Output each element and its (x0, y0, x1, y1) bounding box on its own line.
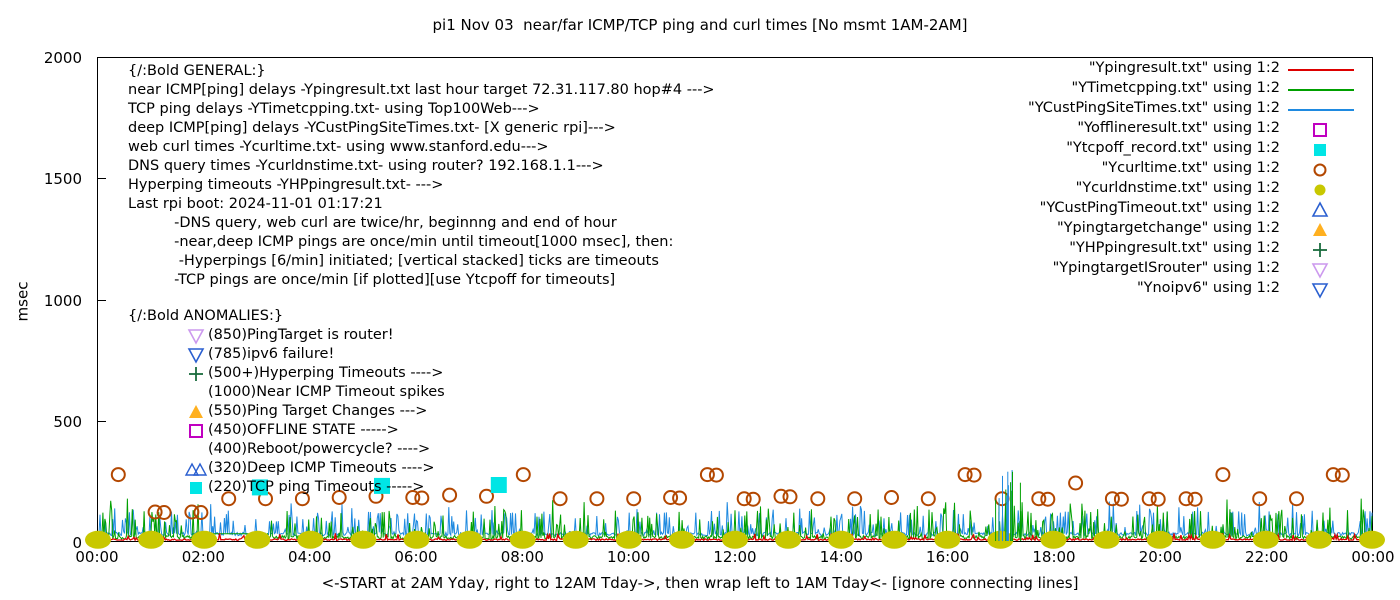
y-tick-label: 1500 (0, 170, 82, 188)
anomaly-label: (450)OFFLINE STATE -----> (208, 422, 399, 438)
legend-key (1288, 60, 1378, 80)
anomaly-item: (220)TCP ping Timeouts -----> (128, 480, 445, 499)
legend-key (1288, 100, 1378, 120)
anomaly-label: (500+)Hyperping Timeouts ----> (208, 365, 443, 381)
general-line: Last rpi boot: 2024-11-01 01:17:21 (128, 197, 715, 216)
general-line: Hyperping timeouts -YHPpingresult.txt- -… (128, 178, 715, 197)
x-tick-label: 04:00 (250, 548, 370, 566)
legend-label: "YTimetcpping.txt" using 1:2 (960, 80, 1280, 100)
anomaly-label: (400)Reboot/powercycle? ----> (208, 441, 430, 457)
general-line: web curl times -Ycurltime.txt- using www… (128, 140, 715, 159)
legend-keys (1288, 60, 1378, 300)
general-line: -Hyperpings [6/min] initiated; [vertical… (128, 254, 715, 273)
legend-label: "Ytcpoff_record.txt" using 1:2 (960, 140, 1280, 160)
legend-label: "YHPpingresult.txt" using 1:2 (960, 240, 1280, 260)
inv-triangle-open-blue-icon (186, 346, 206, 364)
double-triangle-open-blue-icon (186, 460, 206, 478)
y-tick-label: 1000 (0, 292, 82, 310)
general-annotation-block: {/:Bold GENERAL:}near ICMP[ping] delays … (128, 64, 715, 292)
general-line: -TCP pings are once/min [if plotted][use… (128, 273, 715, 292)
triangle-open-blue-icon (1310, 201, 1330, 219)
legend-key (1288, 240, 1378, 260)
inv-triangle-open-blue-icon (1310, 281, 1330, 299)
legend-line-swatch (1288, 109, 1354, 111)
anomaly-label: (320)Deep ICMP Timeouts ----> (208, 460, 435, 476)
anomaly-item: (850)PingTarget is router! (128, 328, 445, 347)
legend-labels: "Ypingresult.txt" using 1:2"YTimetcpping… (960, 60, 1280, 300)
anomalies-annotation-block: {/:Bold ANOMALIES:}(850)PingTarget is ro… (128, 309, 445, 499)
general-heading: {/:Bold GENERAL:} (128, 64, 715, 83)
triangle-filled-orange-icon (186, 403, 206, 421)
x-tick-label: 02:00 (143, 548, 263, 566)
square-open-magenta-icon (1310, 121, 1330, 139)
legend-label: "YCustPingTimeout.txt" using 1:2 (960, 200, 1280, 220)
legend-key (1288, 160, 1378, 180)
inv-triangle-open-violet-icon (186, 327, 206, 345)
triangle-filled-orange-icon (1310, 221, 1330, 239)
general-line: TCP ping delays -YTimetcpping.txt- using… (128, 102, 715, 121)
legend-key (1288, 260, 1378, 280)
anomaly-label: (550)Ping Target Changes ---> (208, 403, 427, 419)
legend-key (1288, 80, 1378, 100)
legend-label: "Ycurltime.txt" using 1:2 (960, 160, 1280, 180)
y-tick-label: 500 (0, 413, 82, 431)
legend-label: "Ycurldnstime.txt" using 1:2 (960, 180, 1280, 200)
anomaly-item: (450)OFFLINE STATE -----> (128, 423, 445, 442)
general-line: deep ICMP[ping] delays -YCustPingSiteTim… (128, 121, 715, 140)
legend-key (1288, 120, 1378, 140)
chart-title: pi1 Nov 03 near/far ICMP/TCP ping and cu… (0, 18, 1400, 33)
anomaly-item: (1000)Near ICMP Timeout spikes (128, 385, 445, 404)
general-line: -DNS query, web curl are twice/hr, begin… (128, 216, 715, 235)
circle-open-brown-icon (1310, 161, 1330, 179)
legend-label: "Ypingresult.txt" using 1:2 (960, 60, 1280, 80)
legend-label: "YpingtargetISrouter" using 1:2 (960, 260, 1280, 280)
legend-key (1288, 200, 1378, 220)
x-tick-label: 12:00 (675, 548, 795, 566)
legend-key (1288, 220, 1378, 240)
general-line: DNS query times -Ycurldnstime.txt- using… (128, 159, 715, 178)
square-open-magenta-icon (186, 422, 206, 440)
legend-key (1288, 140, 1378, 160)
general-line: -near,deep ICMP pings are once/min until… (128, 235, 715, 254)
general-line: near ICMP[ping] delays -Ypingresult.txt … (128, 83, 715, 102)
anomaly-item: (500+)Hyperping Timeouts ----> (128, 366, 445, 385)
anomalies-heading: {/:Bold ANOMALIES:} (128, 309, 445, 328)
square-filled-cyan-icon (1310, 141, 1330, 159)
square-filled-cyan-icon (186, 479, 206, 497)
legend-label: "Yofflineresult.txt" using 1:2 (960, 120, 1280, 140)
legend-key (1288, 280, 1378, 300)
anomaly-item: (550)Ping Target Changes ---> (128, 404, 445, 423)
legend-line-swatch (1288, 89, 1354, 91)
circle-filled-yellow-icon (1310, 181, 1330, 199)
plus-green-icon (1310, 241, 1330, 259)
x-tick-label: 16:00 (888, 548, 1008, 566)
anomaly-item: (320)Deep ICMP Timeouts ----> (128, 461, 445, 480)
x-tick-label: 14:00 (781, 548, 901, 566)
x-tick-label: 20:00 (1100, 548, 1220, 566)
x-tick-label: 00:00 (1313, 548, 1400, 566)
legend-line-swatch (1288, 69, 1354, 71)
x-axis-caption: <-START at 2AM Yday, right to 12AM Tday-… (0, 576, 1400, 591)
anomaly-item: (400)Reboot/powercycle? ----> (128, 442, 445, 461)
x-tick-label: 00:00 (37, 548, 157, 566)
x-tick-label: 08:00 (462, 548, 582, 566)
chart-root: pi1 Nov 03 near/far ICMP/TCP ping and cu… (0, 0, 1400, 600)
legend-label: "Ynoipv6" using 1:2 (960, 280, 1280, 300)
plus-green-icon (186, 365, 206, 383)
legend-label: "Ypingtargetchange" using 1:2 (960, 220, 1280, 240)
x-tick-label: 18:00 (994, 548, 1114, 566)
x-tick-label: 06:00 (356, 548, 476, 566)
anomaly-label: (1000)Near ICMP Timeout spikes (208, 384, 445, 400)
anomaly-item: (785)ipv6 failure! (128, 347, 445, 366)
x-tick-label: 22:00 (1207, 548, 1327, 566)
legend-label: "YCustPingSiteTimes.txt" using 1:2 (960, 100, 1280, 120)
anomaly-label: (220)TCP ping Timeouts -----> (208, 479, 424, 495)
anomaly-label: (785)ipv6 failure! (208, 346, 334, 362)
legend-key (1288, 180, 1378, 200)
inv-triangle-open-violet-icon (1310, 261, 1330, 279)
anomaly-label: (850)PingTarget is router! (208, 327, 394, 343)
x-tick-label: 10:00 (569, 548, 689, 566)
y-tick-label: 2000 (0, 49, 82, 67)
